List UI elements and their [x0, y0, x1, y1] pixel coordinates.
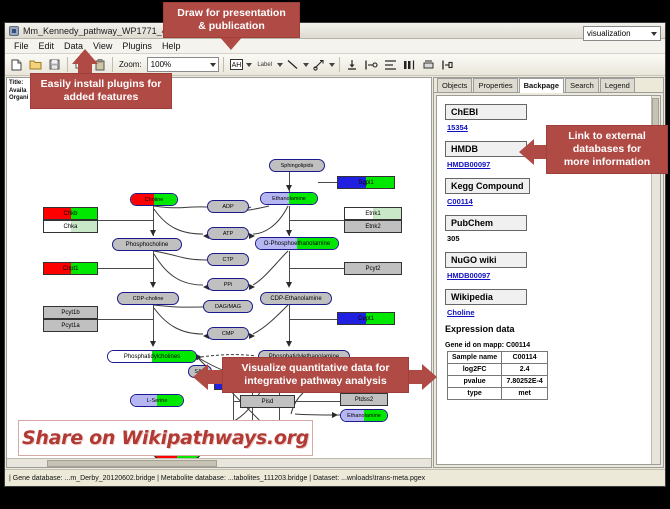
node-label: Chkb [63, 211, 77, 217]
wikipedia-header: Wikipedia [445, 289, 527, 305]
node-label: Ethanolamine [347, 413, 381, 419]
callout-share: Share on Wikipathways.org [18, 420, 313, 456]
arrowhead-icon [332, 412, 338, 418]
node-label: Chka [63, 224, 77, 230]
callout-links-line2: databases for [555, 143, 659, 156]
node-label: Ethanolamine [272, 196, 306, 202]
label-tool-icon[interactable]: Label [254, 56, 276, 73]
menu-file[interactable]: File [9, 40, 34, 52]
expression-row-label: Sample name [448, 352, 502, 364]
gene-id-on-mapp: Gene id on mapp: C00114 [445, 342, 660, 349]
callout-plugins-line1: Easily install plugins for [39, 78, 163, 91]
node-label: Cept1 [358, 316, 374, 322]
info-title-label: Title: [9, 80, 28, 88]
anchor-tool-icon[interactable] [311, 56, 328, 73]
node-label: Etnk1 [365, 211, 380, 217]
gene-pcyt1a[interactable]: Pcyt1a [43, 319, 98, 332]
arrowhead-icon [150, 230, 156, 236]
callout-links-line1: Link to external [555, 130, 659, 143]
label-tool-text: Label [257, 62, 272, 68]
align-left-icon[interactable] [363, 56, 380, 73]
node-atp[interactable]: ATP [207, 227, 249, 240]
gene-pcyt2[interactable]: Pcyt2 [344, 262, 402, 275]
gene-pisd[interactable]: Pisd [240, 395, 295, 408]
window-titlebar: Mm_Kennedy_pathway_WP1771_45176.gpml [5, 23, 665, 39]
gene-cept1[interactable]: Cept1 [337, 312, 395, 325]
chevron-down-icon [210, 63, 216, 67]
app-icon [9, 26, 19, 36]
node-label: PPi [224, 282, 233, 288]
callout-external-links: Link to external databases for more info… [546, 125, 668, 174]
callout-visualize-stem [207, 370, 223, 384]
menu-edit[interactable]: Edit [34, 40, 60, 52]
expression-row-value: 2.4 [502, 364, 548, 376]
hmdb-header: HMDB [445, 141, 527, 157]
toolbar-separator-4 [339, 57, 340, 72]
node-label: Pcyt2 [365, 266, 380, 272]
node-label: ATP [223, 231, 233, 237]
gene-chkb[interactable]: Chkb [43, 207, 98, 220]
info-organism-label: Organi [9, 95, 28, 103]
node-cmp[interactable]: CMP [207, 327, 249, 340]
callout-visualize-arrow-icon [193, 364, 208, 390]
expression-row-label: pvalue [448, 376, 502, 388]
node-label: Pisd [262, 399, 274, 405]
expression-data-table: Sample nameC00114log2FC2.4pvalue7.80252E… [447, 351, 548, 400]
toolbar-separator [67, 57, 68, 72]
node-sphingolipids[interactable]: Sphingolipids [269, 159, 325, 172]
gene-chpt1[interactable]: Chpt1 [43, 262, 98, 275]
edge-phosphocholine-cdpcholine [153, 251, 154, 286]
text-label-tool[interactable]: AH [228, 56, 252, 73]
node-o-phosphoethanolamine[interactable]: O-Phosphoethanolamine [255, 237, 339, 250]
open-file-icon[interactable] [27, 56, 44, 73]
stack-icon[interactable] [420, 56, 437, 73]
line-tool[interactable] [285, 56, 309, 73]
callout-visualize-arrow-right-icon [422, 364, 437, 390]
node-ppi[interactable]: PPi [207, 278, 249, 291]
edge-chpt1-to-reaction [98, 268, 153, 269]
gene-pcyt1b[interactable]: Pcyt1b [43, 306, 98, 319]
hscroll-thumb[interactable] [47, 460, 217, 467]
pubchem-header: PubChem [445, 215, 527, 231]
node-label: CTP [223, 257, 234, 263]
nugo-wiki-link[interactable]: HMDB00097 [447, 271, 660, 280]
node-cdp-choline[interactable]: CDP-choline [117, 292, 179, 305]
expression-row-label: log2FC [448, 364, 502, 376]
tab-backpage[interactable]: Backpage [519, 78, 564, 93]
tab-legend[interactable]: Legend [600, 78, 635, 92]
node-ethanolamine-top[interactable]: Ethanolamine [260, 192, 318, 205]
edge-etnk-to-reaction [289, 220, 344, 221]
chevron-down-icon[interactable] [246, 63, 252, 67]
node-label: Ptdss2 [355, 397, 373, 403]
arrowhead-icon [286, 185, 292, 191]
new-file-icon[interactable] [8, 56, 25, 73]
arrowhead-icon [249, 284, 255, 290]
distribute-icon[interactable] [382, 56, 399, 73]
callout-visualize-line2: integrative pathway analysis [231, 375, 400, 388]
wikipedia-link[interactable]: Choline [447, 308, 660, 317]
table-row: Sample nameC00114 [448, 352, 548, 364]
callout-plugins-arrow-icon [72, 49, 98, 64]
node-phosphocholine[interactable]: Phosphocholine [112, 238, 182, 251]
callout-plugins-line2: added features [39, 91, 163, 104]
chevron-down-icon [651, 32, 657, 36]
gene-etnk1[interactable]: Etnk1 [344, 207, 402, 220]
expression-row-value: C00114 [502, 352, 548, 364]
callout-links-line3: more information [555, 156, 659, 169]
chebi-header: ChEBI [445, 104, 527, 120]
node-label: L-Serine [147, 398, 168, 404]
visualization-value: visualization [587, 29, 631, 38]
node-label: Pcyt1b [61, 310, 79, 316]
line-tool-icon[interactable] [285, 56, 302, 73]
toolbar-separator-3 [223, 57, 224, 72]
edge-pcyt2-to-reaction [289, 268, 344, 269]
gene-ptdss2[interactable]: Ptdss2 [340, 393, 388, 406]
kegg-compound-link[interactable]: C00114 [447, 197, 660, 206]
nugo-wiki-header: NuGO wiki [445, 252, 527, 268]
statusbar: | Gene database: ...m_Derby_20120602.bri… [5, 469, 665, 486]
arrowhead-icon [286, 282, 292, 288]
menu-help[interactable]: Help [157, 40, 186, 52]
node-label: CDP-Ethanolamine [270, 296, 321, 302]
kegg-compound-header: Kegg Compound [445, 178, 530, 194]
arrowhead-icon [286, 341, 292, 347]
align-bottom-icon[interactable] [344, 56, 361, 73]
node-label: Etnk2 [365, 224, 380, 230]
node-l-serine-left[interactable]: L-Serine [130, 394, 184, 407]
callout-install-plugins: Easily install plugins for added feature… [30, 73, 172, 109]
table-row: log2FC2.4 [448, 364, 548, 376]
label-tool[interactable]: Label [254, 56, 283, 73]
node-label: O-Phosphoethanolamine [264, 241, 330, 247]
gene-chka[interactable]: Chka [43, 220, 98, 233]
node-ctp[interactable]: CTP [207, 253, 249, 266]
canvas-hscrollbar[interactable] [7, 458, 431, 467]
node-choline-top[interactable]: Choline [130, 193, 178, 206]
zoom-value: 100% [151, 60, 171, 69]
edge-pcyt-to-reaction [98, 319, 153, 320]
node-dagmag[interactable]: DAG/MAG [203, 300, 253, 313]
node-phosphatidylcholines[interactable]: Phosphatidylcholines [107, 350, 197, 363]
pathway-info-labels: Title: Availa Organi [9, 80, 28, 103]
zoom-label: Zoom: [119, 60, 142, 69]
arrowhead-icon [286, 230, 292, 236]
statusbar-text: | Gene database: ...m_Derby_20120602.bri… [9, 475, 425, 482]
expression-row-value: 7.80252E-4 [502, 376, 548, 388]
table-row: pvalue7.80252E-4 [448, 376, 548, 388]
node-label: Phosphatidylcholines [124, 354, 180, 360]
arrowhead-icon [150, 341, 156, 347]
toolbar-separator-2 [112, 57, 113, 72]
edge-ptdss2-to-reaction [295, 401, 340, 402]
node-label: Sphingolipids [281, 163, 314, 169]
gene-etnk2[interactable]: Etnk2 [344, 220, 402, 233]
expression-data-title: Expression data [445, 324, 660, 334]
arrowhead-icon [249, 333, 255, 339]
callout-draw-line2: & publication [172, 20, 291, 33]
info-availability-label: Availa [9, 88, 28, 96]
callout-visualize-data: Visualize quantitative data for integrat… [222, 357, 409, 393]
node-label: DAG/MAG [215, 304, 241, 310]
node-ethanolamine-bottom[interactable]: Ethanolamine [340, 409, 388, 422]
pubchem-value: 305 [447, 234, 660, 243]
table-row: typemet [448, 388, 548, 400]
tab-search[interactable]: Search [565, 78, 599, 92]
node-label: Choline [145, 197, 164, 203]
group-icon[interactable] [439, 56, 456, 73]
callout-visualize-line1: Visualize quantitative data for [231, 362, 400, 375]
text-label-icon[interactable]: AH [228, 56, 245, 73]
gene-sgpl1[interactable]: Sgpl1 [337, 176, 395, 189]
node-cdp-ethanolamine[interactable]: CDP-Ethanolamine [260, 292, 332, 305]
callout-draw-presentation: Draw for presentation & publication [163, 2, 300, 38]
node-label: CMP [222, 331, 234, 337]
zoom-combobox[interactable]: 100% [147, 57, 219, 72]
node-label: CDP-choline [133, 296, 164, 302]
screenshot-root: Mm_Kennedy_pathway_WP1771_45176.gpml Fil… [0, 0, 670, 509]
size-equal-icon[interactable] [401, 56, 418, 73]
node-label: Chpt1 [62, 266, 78, 272]
menu-plugins[interactable]: Plugins [117, 40, 157, 52]
menubar: File Edit Data View Plugins Help [5, 39, 665, 54]
save-file-icon[interactable] [46, 56, 63, 73]
share-text: Share on Wikipathways.org [22, 427, 309, 449]
svg-text:AH: AH [231, 62, 241, 69]
tab-objects[interactable]: Objects [437, 78, 472, 92]
chevron-down-icon[interactable] [329, 63, 335, 67]
callout-draw-line1: Draw for presentation [172, 7, 291, 20]
callout-links-arrow-icon [519, 139, 534, 165]
tab-properties[interactable]: Properties [473, 78, 517, 92]
side-panel-tabs: Objects Properties Backpage Search Legen… [434, 78, 663, 93]
anchor-tool[interactable] [311, 56, 335, 73]
pathway-canvas-inner[interactable]: Title: Availa Organi [7, 78, 431, 467]
visualization-combobox[interactable]: visualization [583, 26, 661, 41]
chevron-down-icon[interactable] [277, 63, 283, 67]
edge-cdpetn-pe [289, 305, 290, 345]
edge-cept1-to-reaction [289, 319, 339, 320]
node-label: Phosphocholine [126, 242, 169, 248]
node-adp[interactable]: ADP [207, 200, 249, 213]
node-label: Sgpl1 [358, 180, 373, 186]
arrowhead-icon [249, 233, 255, 239]
edge-chk-to-reaction [98, 220, 153, 221]
pathway-canvas[interactable]: Title: Availa Organi [6, 77, 432, 468]
expression-row-value: met [502, 388, 548, 400]
node-label: Pcyt1a [61, 323, 79, 329]
expression-row-label: type [448, 388, 502, 400]
arrowhead-icon [150, 282, 156, 288]
chevron-down-icon[interactable] [303, 63, 309, 67]
node-label: ADP [222, 204, 233, 210]
callout-visualize-stem-right [409, 370, 423, 384]
edge-cdpcholine-pc [153, 305, 154, 345]
